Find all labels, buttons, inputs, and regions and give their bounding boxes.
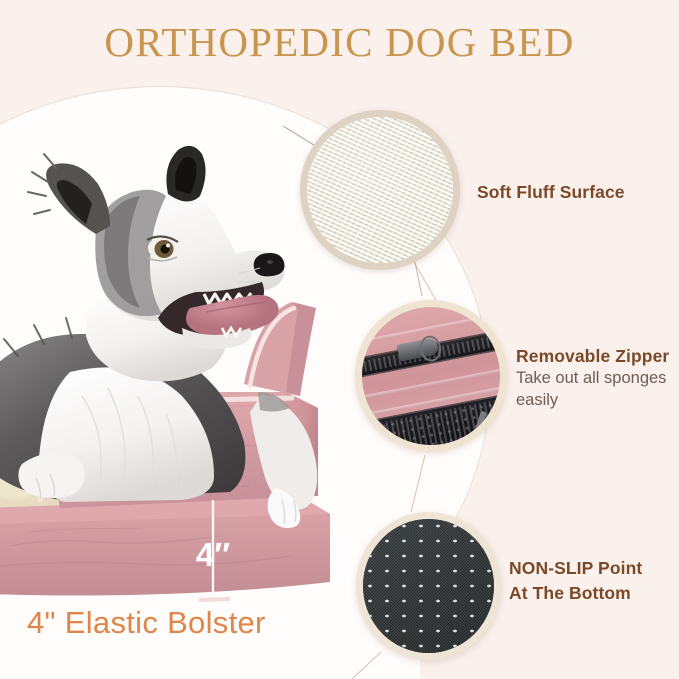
callout-removable-zipper[interactable] xyxy=(355,300,507,452)
label-removable-zipper-subtext: Take out all sponges easily xyxy=(516,368,679,412)
callout-non-slip[interactable] xyxy=(356,512,501,660)
label-removable-zipper: Removable Zipper xyxy=(516,346,669,367)
label-soft-fluff-surface: Soft Fluff Surface xyxy=(477,182,625,203)
dimension-label: 4″ xyxy=(196,536,230,573)
label-non-slip-line2: At The Bottom xyxy=(509,581,642,606)
label-non-slip-line1: NON-SLIP Point xyxy=(509,556,642,581)
page-title: ORTHOPEDIC DOG BED xyxy=(0,18,679,66)
callout-soft-fluff[interactable] xyxy=(300,110,460,270)
swatch-non-slip-texture xyxy=(363,519,494,653)
label-non-slip: NON-SLIP Point At The Bottom xyxy=(509,556,642,606)
infographic-canvas: ORTHOPEDIC DOG BED xyxy=(0,0,679,679)
zipper-pull-icon xyxy=(397,337,440,361)
swatch-zipper-texture xyxy=(362,307,500,445)
caption-elastic-bolster: 4" Elastic Bolster xyxy=(27,605,266,641)
swatch-fluff-texture xyxy=(307,117,453,263)
